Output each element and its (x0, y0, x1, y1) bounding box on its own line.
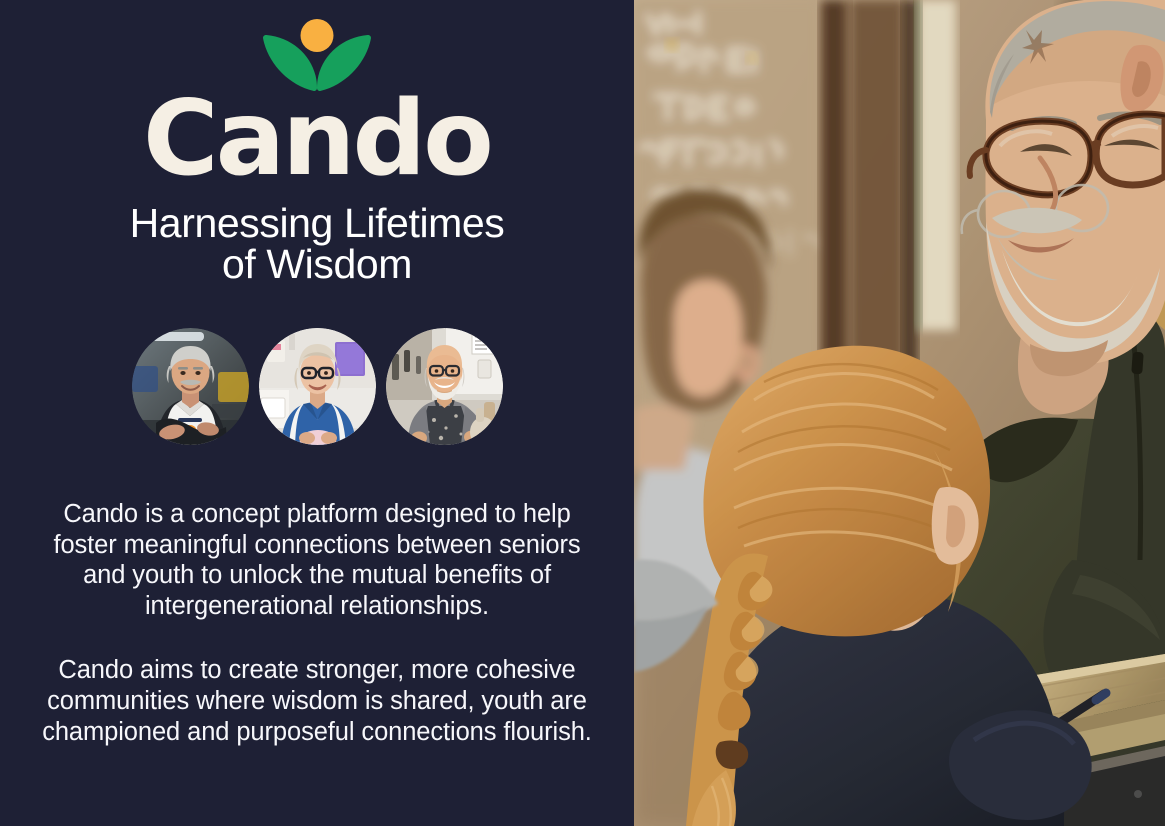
tagline-line-1: Harnessing Lifetimes (37, 203, 597, 244)
left-content-panel: Cando Harnessing Lifetimes of Wisdom (0, 0, 634, 826)
senior-man-pottery-avatar (386, 328, 503, 445)
workshop-intergenerational-photo (634, 0, 1165, 826)
senior-man-workshop-avatar (132, 328, 249, 445)
brand-logo: Cando (137, 18, 497, 187)
tagline-line-2: of Wisdom (37, 244, 597, 285)
avatar-group (132, 328, 503, 445)
page-title: Harnessing Lifetimes of Wisdom (37, 203, 597, 285)
senior-woman-sewing-avatar (259, 328, 376, 445)
description-paragraph-2: Cando aims to create stronger, more cohe… (37, 655, 597, 748)
brand-wordmark: Cando (143, 92, 491, 187)
description-block: Cando is a concept platform designed to … (37, 499, 597, 748)
description-paragraph-1: Cando is a concept platform designed to … (37, 499, 597, 622)
orange-circle-icon (301, 19, 334, 52)
poster-canvas: Cando Harnessing Lifetimes of Wisdom (0, 0, 1165, 826)
